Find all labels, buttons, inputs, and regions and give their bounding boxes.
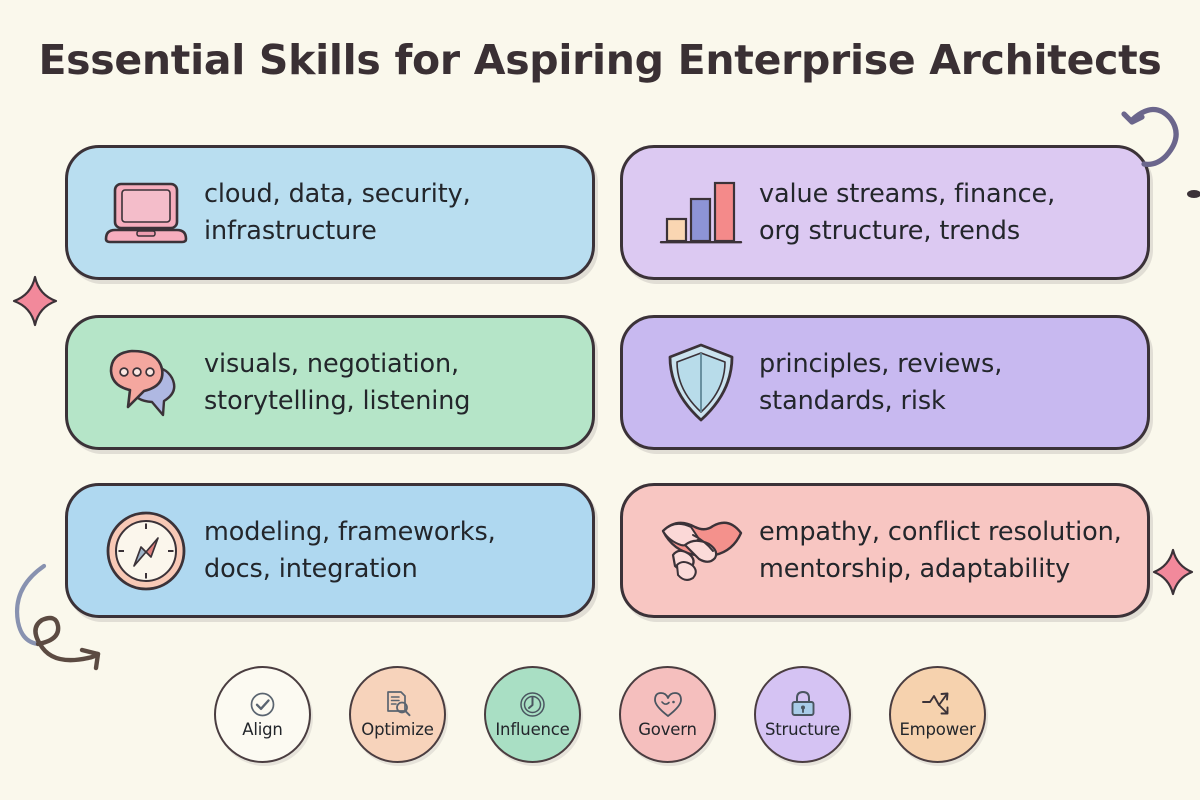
document-search-icon: [384, 690, 412, 718]
skill-card-governance[interactable]: principles, reviews, standards, risk: [620, 315, 1150, 450]
skill-card-text: principles, reviews, standards, risk: [759, 346, 1002, 418]
bar-chart-icon: [657, 170, 745, 256]
badge-govern[interactable]: Govern: [619, 666, 716, 763]
shield-icon: [657, 340, 745, 426]
skill-card-text: visuals, negotiation, storytelling, list…: [204, 346, 470, 418]
skill-card-text: cloud, data, security, infrastructure: [204, 176, 471, 248]
circular-arrow-icon: [1118, 98, 1190, 184]
laptop-icon: [102, 170, 190, 256]
skill-card-grid: cloud, data, security, infrastructure va…: [65, 145, 1140, 623]
skill-card-communication[interactable]: visuals, negotiation, storytelling, list…: [65, 315, 595, 450]
badge-label: Optimize: [361, 720, 433, 739]
skill-card-text: value streams, finance, org structure, t…: [759, 176, 1055, 248]
speech-bubbles-icon: [102, 340, 190, 426]
outcome-badge-row: Align Optimize: [214, 666, 986, 766]
badge-label: Structure: [765, 720, 840, 739]
skill-card-people[interactable]: empathy, conflict resolution, mentorship…: [620, 483, 1150, 618]
sparkle-icon: [12, 275, 58, 327]
badge-label: Govern: [638, 720, 697, 739]
badge-structure[interactable]: Structure: [754, 666, 851, 763]
badge-empower[interactable]: Empower: [889, 666, 986, 763]
skill-card-text: empathy, conflict resolution, mentorship…: [759, 514, 1122, 586]
dot-icon: [1186, 188, 1200, 200]
lock-icon: [790, 690, 816, 718]
handshake-icon: [657, 508, 745, 594]
clock-icon: [519, 690, 546, 718]
badge-label: Align: [242, 720, 282, 739]
skill-card-text: modeling, frameworks, docs, integration: [204, 514, 496, 586]
infographic-canvas: Essential Skills for Aspiring Enterprise…: [0, 0, 1200, 800]
page-title: Essential Skills for Aspiring Enterprise…: [0, 36, 1200, 84]
badge-align[interactable]: Align: [214, 666, 311, 763]
badge-optimize[interactable]: Optimize: [349, 666, 446, 763]
heart-icon: [653, 690, 683, 718]
trend-arrows-icon: [921, 690, 955, 718]
skill-card-architecture[interactable]: modeling, frameworks, docs, integration: [65, 483, 595, 618]
badge-label: Influence: [495, 720, 569, 739]
skill-card-business[interactable]: value streams, finance, org structure, t…: [620, 145, 1150, 280]
skill-card-technology[interactable]: cloud, data, security, infrastructure: [65, 145, 595, 280]
badge-influence[interactable]: Influence: [484, 666, 581, 763]
badge-label: Empower: [899, 720, 975, 739]
loop-arrow-icon: [4, 560, 128, 682]
sparkle-icon: [1152, 548, 1194, 596]
check-circle-icon: [249, 690, 276, 718]
